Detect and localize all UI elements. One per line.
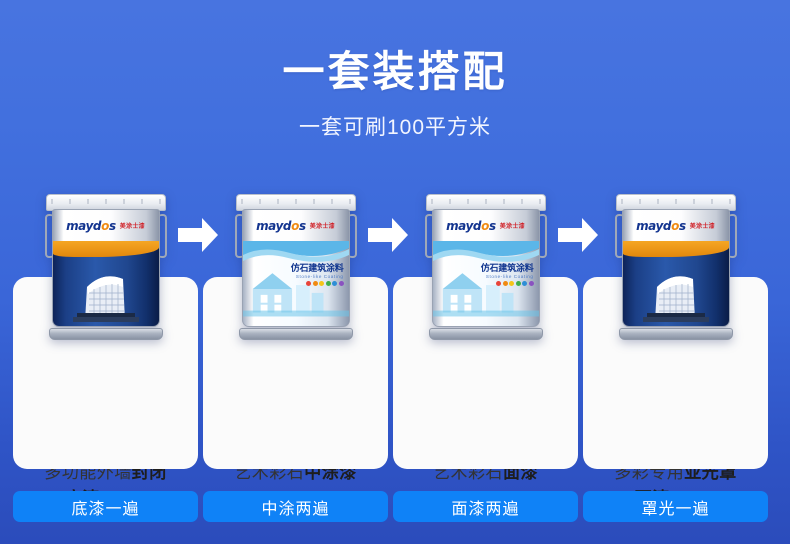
brand-logo: maydos 美涂士漆 bbox=[243, 210, 349, 241]
step-pill-3[interactable]: 面漆两遍 bbox=[393, 491, 578, 522]
product-image-3: maydos 美涂士漆 bbox=[393, 188, 578, 340]
step-card-2[interactable]: maydos 美涂士漆 bbox=[203, 188, 388, 522]
step-pill-2[interactable]: 中涂两遍 bbox=[203, 491, 388, 522]
brand-logo: maydos 美涂士漆 bbox=[53, 210, 159, 241]
promo-banner: 一套装搭配 一套可刷100平方米 maydos 美涂士漆 bbox=[0, 0, 790, 544]
color-dots bbox=[481, 281, 534, 286]
bucket-rim bbox=[239, 328, 353, 340]
brand-logo-o: o bbox=[481, 219, 489, 233]
header: 一套装搭配 一套可刷100平方米 bbox=[0, 44, 790, 142]
brand-logo-cn: 美涂士漆 bbox=[500, 221, 525, 230]
product-image-2: maydos 美涂士漆 bbox=[203, 188, 388, 340]
brand-logo-text: maydos bbox=[446, 219, 496, 233]
bucket-rim bbox=[49, 328, 163, 340]
building-illustration-icon bbox=[69, 269, 143, 323]
step-pill-1[interactable]: 底漆一遍 bbox=[13, 491, 198, 522]
step-pill-4[interactable]: 罩光一遍 bbox=[583, 491, 768, 522]
step-card-3[interactable]: maydos 美涂士漆 bbox=[393, 188, 578, 522]
bucket-body: maydos 美涂士漆 bbox=[52, 209, 160, 327]
product-label-en: Stone-like Coating bbox=[481, 273, 534, 280]
product-label-cn: 仿石建筑涂料 bbox=[291, 263, 344, 273]
orange-swoosh bbox=[53, 241, 159, 257]
bucket-body: maydos 美涂士漆 bbox=[432, 209, 540, 327]
product-image-4: maydos 美涂士漆 bbox=[583, 188, 768, 340]
product-image-1: maydos 美涂士漆 bbox=[13, 188, 198, 340]
color-dots bbox=[291, 281, 344, 286]
brand-logo-text: maydos bbox=[66, 219, 116, 233]
page-subtitle: 一套可刷100平方米 bbox=[0, 114, 790, 142]
brand-logo: maydos 美涂士漆 bbox=[433, 210, 539, 241]
page-title: 一套装搭配 bbox=[0, 44, 790, 100]
brand-logo-o: o bbox=[101, 219, 109, 233]
bucket-artwork-stone: 仿石建筑涂料 Stone-like Coating bbox=[243, 241, 349, 326]
bucket-body: maydos 美涂士漆 bbox=[622, 209, 730, 327]
bucket-artwork-stone: 仿石建筑涂料 Stone-like Coating bbox=[433, 241, 539, 326]
brand-logo-cn: 美涂士漆 bbox=[310, 221, 335, 230]
arrow-step2-to-step3-icon bbox=[366, 214, 410, 256]
brand-logo-o: o bbox=[291, 219, 299, 233]
bucket-rim bbox=[429, 328, 543, 340]
step-card-1[interactable]: maydos 美涂士漆 bbox=[13, 188, 198, 522]
arrow-step3-to-step4-icon bbox=[556, 214, 600, 256]
product-label: 仿石建筑涂料 Stone-like Coating bbox=[291, 263, 344, 286]
product-label: 仿石建筑涂料 Stone-like Coating bbox=[481, 263, 534, 286]
bucket-artwork-building bbox=[623, 241, 729, 326]
arrow-step1-to-step2-icon bbox=[176, 214, 220, 256]
orange-swoosh bbox=[623, 241, 729, 257]
product-label-en: Stone-like Coating bbox=[291, 273, 344, 280]
brand-logo-text: maydos bbox=[256, 219, 306, 233]
bucket-artwork-building bbox=[53, 241, 159, 326]
brand-logo-cn: 美涂士漆 bbox=[690, 221, 715, 230]
brand-logo-text: maydos bbox=[636, 219, 686, 233]
building-illustration-icon bbox=[639, 269, 713, 323]
product-label-cn: 仿石建筑涂料 bbox=[481, 263, 534, 273]
brand-logo-cn: 美涂士漆 bbox=[120, 221, 145, 230]
bucket-body: maydos 美涂士漆 bbox=[242, 209, 350, 327]
brand-logo: maydos 美涂士漆 bbox=[623, 210, 729, 241]
brand-logo-o: o bbox=[671, 219, 679, 233]
step-card-4[interactable]: maydos 美涂士漆 bbox=[583, 188, 768, 522]
bucket-rim bbox=[619, 328, 733, 340]
